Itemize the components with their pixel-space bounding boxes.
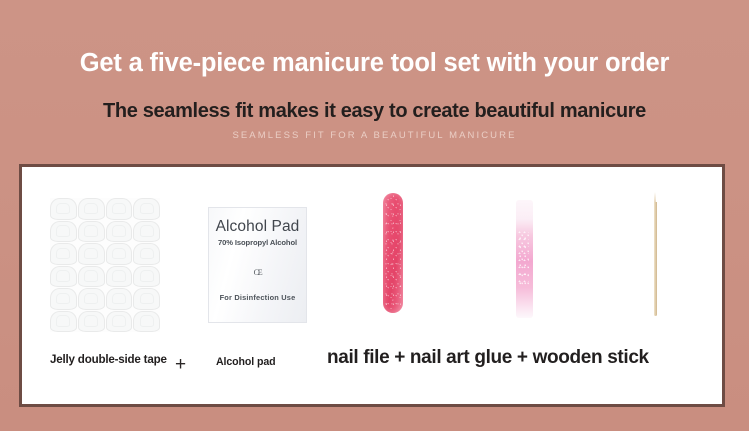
product-panel: Alcohol Pad 70% Isopropyl Alcohol CE For… — [22, 167, 722, 404]
product-image-row: Alcohol Pad 70% Isopropyl Alcohol CE For… — [22, 167, 722, 345]
product-caption-row: Jelly double-side tape + Alcohol pad nai… — [22, 339, 722, 404]
ce-mark-icon: CE — [209, 268, 306, 277]
alcohol-pad-use-text: For Disinfection Use — [209, 293, 306, 302]
alcohol-pad-spec-text: 70% Isopropyl Alcohol — [209, 238, 306, 247]
wooden-stick-body — [654, 202, 657, 316]
subheadline: The seamless fit makes it easy to create… — [0, 101, 749, 121]
headline: Get a five-piece manicure tool set with … — [0, 51, 749, 77]
tape-tab — [133, 288, 160, 310]
tape-tab — [133, 198, 160, 220]
tape-tab — [133, 243, 160, 265]
caption-remaining-tools: nail file + nail art glue + wooden stick — [327, 347, 649, 369]
tape-tab — [106, 243, 133, 265]
alcohol-pad-image: Alcohol Pad 70% Isopropyl Alcohol CE For… — [208, 207, 307, 323]
tape-tab — [106, 198, 133, 220]
tape-tab — [106, 311, 133, 333]
tape-tab — [50, 266, 77, 288]
tape-tab — [106, 266, 133, 288]
tape-tab — [78, 221, 105, 243]
tape-tab — [78, 198, 105, 220]
tape-tab — [133, 266, 160, 288]
tape-tab — [78, 266, 105, 288]
tape-tab — [50, 198, 77, 220]
jelly-tape-image — [50, 198, 160, 332]
wooden-stick-image — [652, 192, 659, 316]
alcohol-pad-brand-text: Alcohol Pad — [209, 218, 306, 235]
tape-tab — [50, 311, 77, 333]
tape-tab — [133, 221, 160, 243]
tape-tab — [50, 243, 77, 265]
plus-icon: + — [175, 355, 186, 374]
caption-alcohol-pad: Alcohol pad — [216, 356, 276, 368]
tape-tab — [78, 288, 105, 310]
microcopy-tagline: SEAMLESS FIT FOR A BEAUTIFUL MANICURE — [0, 131, 749, 141]
tape-tab — [78, 311, 105, 333]
nail-art-glue-image — [516, 200, 533, 318]
tape-tab — [50, 288, 77, 310]
nail-file-image — [383, 193, 403, 313]
tape-tab — [133, 311, 160, 333]
tape-tab — [106, 288, 133, 310]
promo-banner: Get a five-piece manicure tool set with … — [0, 0, 749, 431]
tape-tab — [50, 221, 77, 243]
caption-jelly-tape: Jelly double-side tape — [50, 352, 168, 367]
product-showcase-frame: Alcohol Pad 70% Isopropyl Alcohol CE For… — [19, 164, 725, 407]
tape-tab — [78, 243, 105, 265]
tape-tab — [106, 221, 133, 243]
